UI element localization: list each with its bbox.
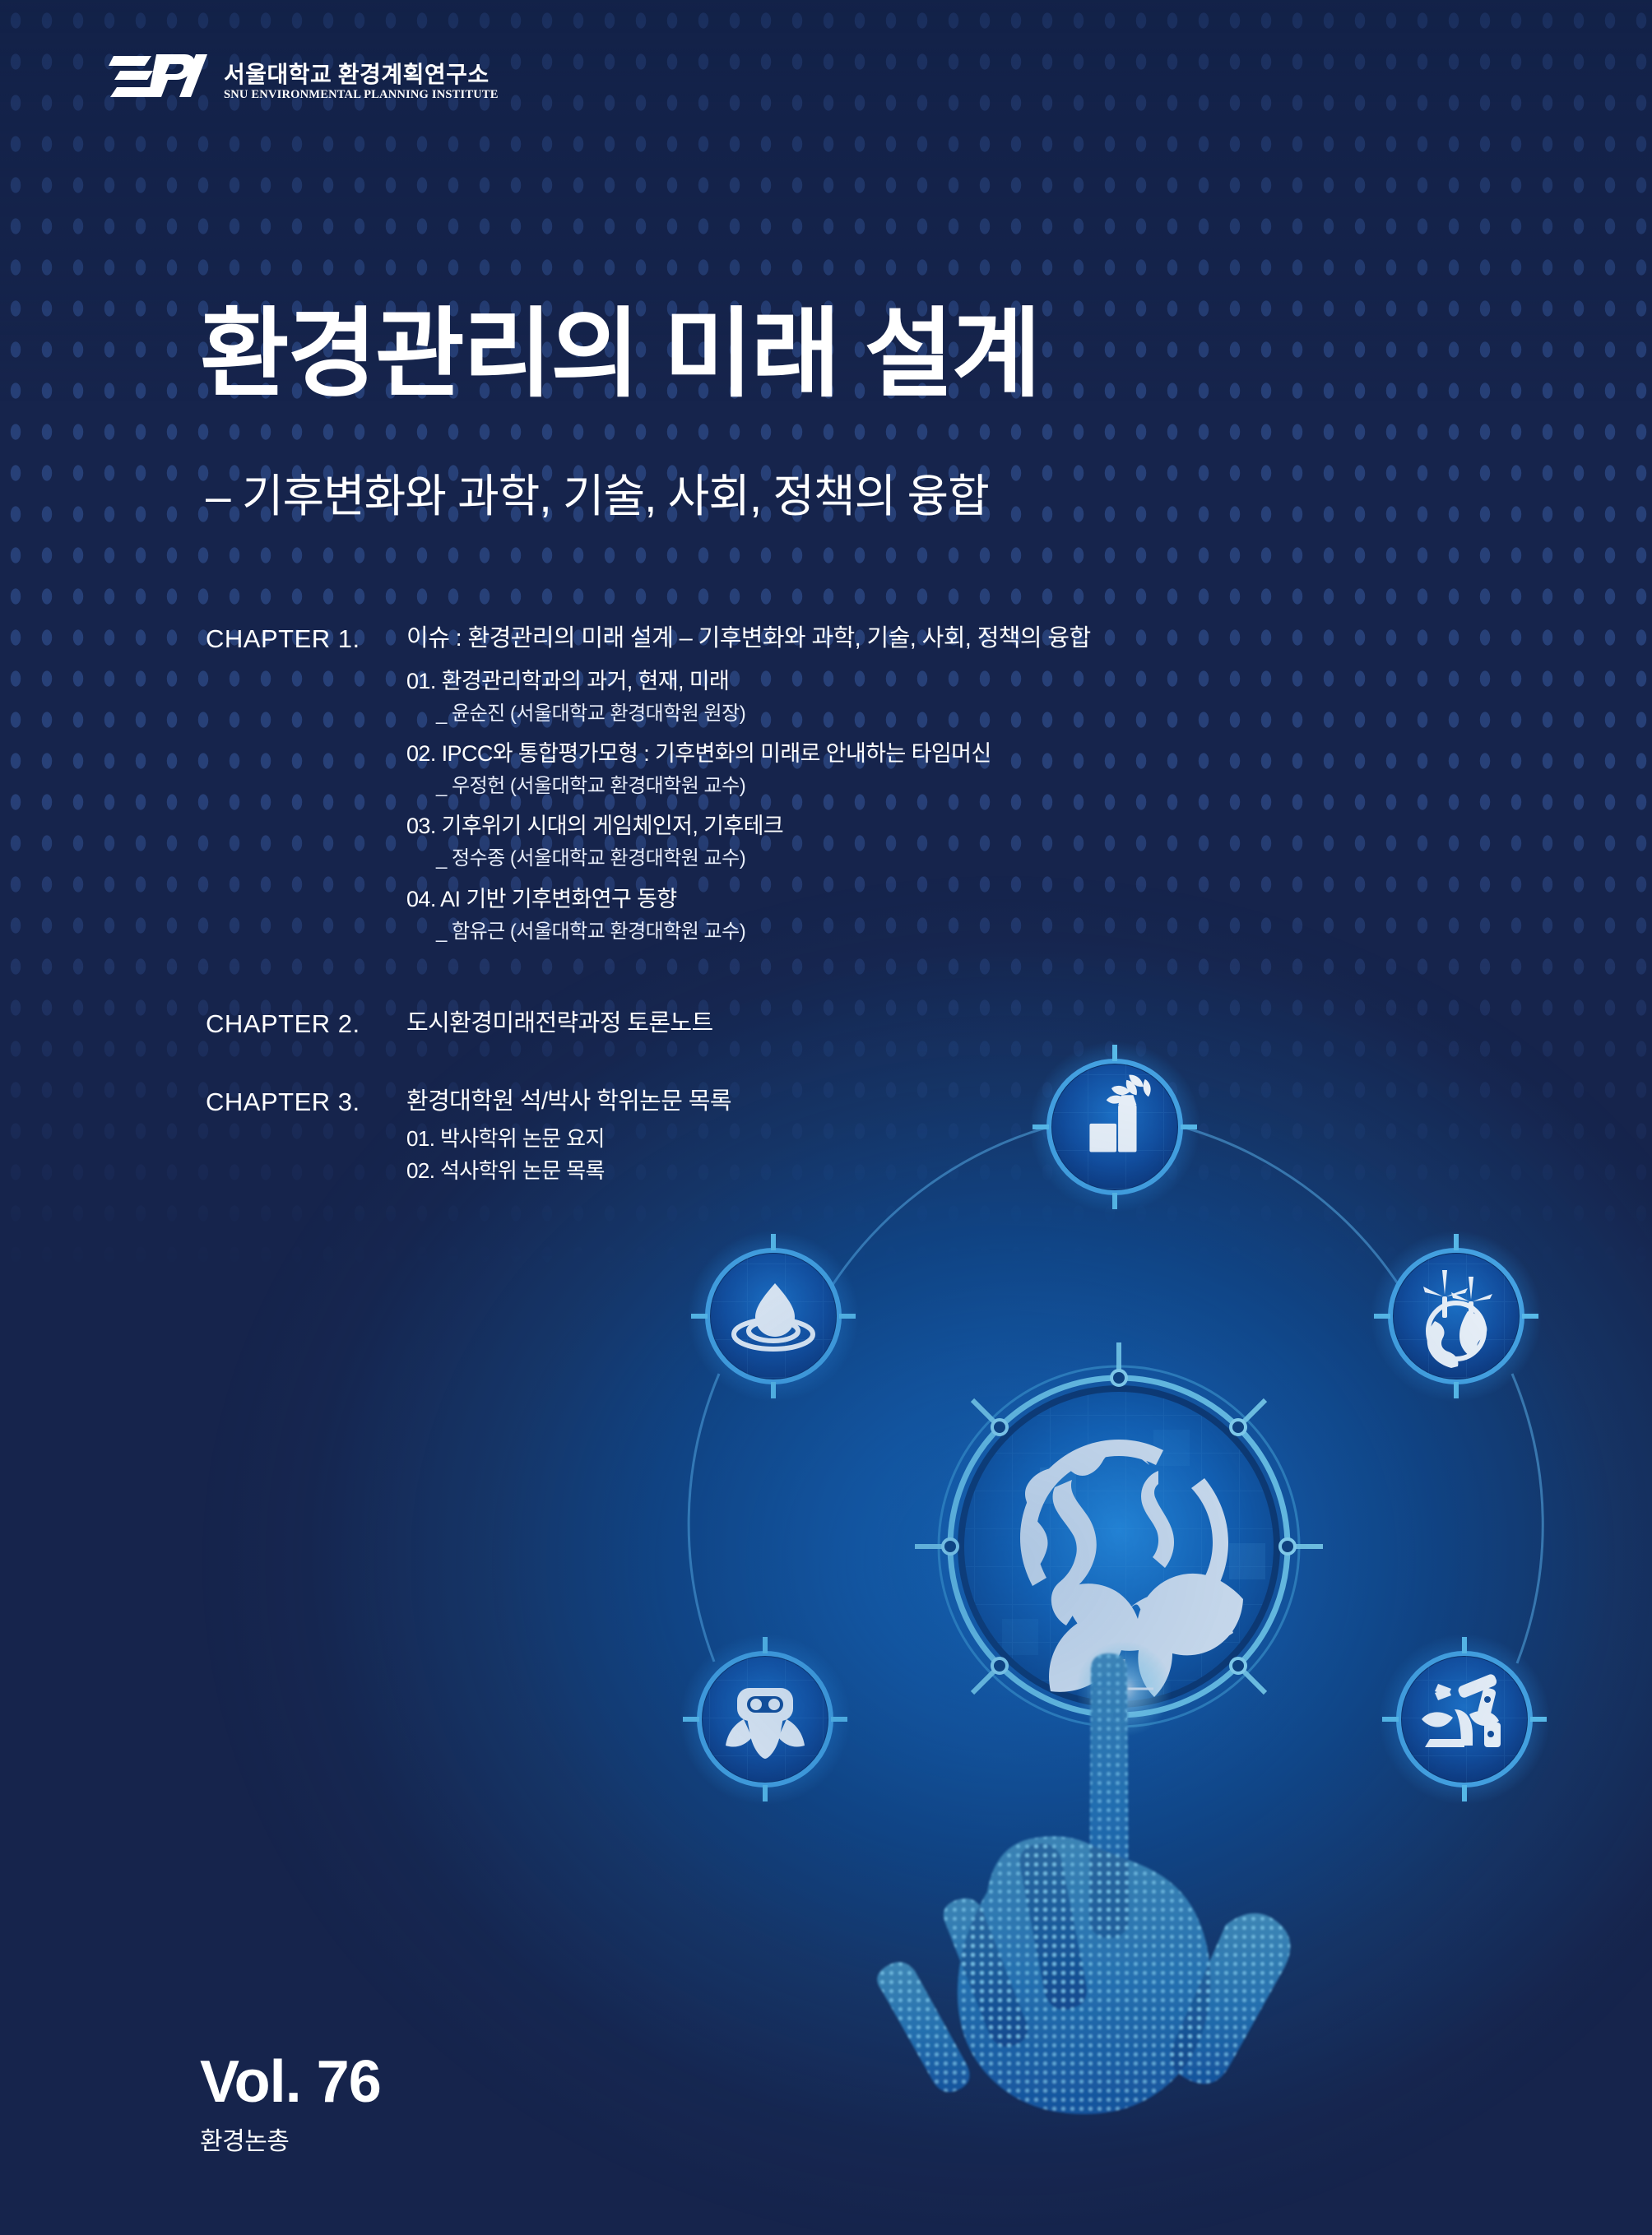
- brand-name-ko: 서울대학교 환경계획연구소: [224, 64, 499, 87]
- chapter-3: CHAPTER 3. 환경대학원 석/박사 학위논문 목록 01. 박사학위 논…: [206, 1087, 1193, 1188]
- chapter-3-sub-item-1: 01. 박사학위 논문 요지: [406, 1123, 1193, 1155]
- chapter-1-entry-3: 03. 기후위기 시대의 게임체인저, 기후테크 _ 정수종 (서울대학교 환경…: [406, 812, 1193, 871]
- page-subtitle: – 기후변화와 과학, 기술, 사회, 정책의 융합: [206, 471, 989, 522]
- chapter-1-label: CHAPTER 1.: [206, 624, 406, 656]
- chapter-1-title: 이슈 : 환경관리의 미래 설계 – 기후변화와 과학, 기술, 사회, 정책의…: [406, 624, 1091, 653]
- entry-title: 03. 기후위기 시대의 게임체인저, 기후테크: [406, 812, 1193, 841]
- entry-author: _ 함유근 (서울대학교 환경대학원 교수): [436, 919, 1193, 944]
- chapter-1: CHAPTER 1. 이슈 : 환경관리의 미래 설계 – 기후변화와 과학, …: [206, 624, 1193, 944]
- entry-author: _ 정수종 (서울대학교 환경대학원 교수): [436, 846, 1193, 871]
- toc-spacer-2: [206, 1049, 1193, 1087]
- chapter-1-entry-4: 04. AI 기반 기후변화연구 동향 _ 함유근 (서울대학교 환경대학원 교…: [406, 885, 1193, 944]
- brand-logo-text: 서울대학교 환경계획연구소 SNU ENVIRONMENTAL PLANNING…: [224, 64, 499, 104]
- chapter-1-entry-2: 02. IPCC와 통합평가모형 : 기후변화의 미래로 안내하는 타임머신 _…: [406, 740, 1193, 799]
- volume-block: Vol. 76 환경논총: [200, 2052, 381, 2154]
- entry-title: 04. AI 기반 기후변화연구 동향: [406, 885, 1193, 914]
- volume-name: 환경논총: [200, 2130, 381, 2154]
- brand-logo: 서울대학교 환경계획연구소 SNU ENVIRONMENTAL PLANNING…: [105, 49, 499, 104]
- epi-logo-icon: [105, 49, 211, 104]
- toc-spacer-1: [206, 958, 1193, 1009]
- cover-page: 서울대학교 환경계획연구소 SNU ENVIRONMENTAL PLANNING…: [0, 0, 1652, 2235]
- entry-author: _ 우정헌 (서울대학교 환경대학원 교수): [436, 773, 1193, 799]
- brand-name-en: SNU ENVIRONMENTAL PLANNING INSTITUTE: [224, 89, 499, 101]
- chapter-3-sub-item-2: 02. 석사학위 논문 목록: [406, 1155, 1193, 1187]
- chapter-2-label: CHAPTER 2.: [206, 1009, 406, 1041]
- chapter-3-label: CHAPTER 3.: [206, 1087, 406, 1119]
- page-title: 환경관리의 미래 설계: [200, 304, 1040, 406]
- chapter-2: CHAPTER 2. 도시환경미래전략과정 토론노트: [206, 1009, 1193, 1041]
- chapter-3-title: 환경대학원 석/박사 학위논문 목록: [406, 1087, 731, 1116]
- table-of-contents: CHAPTER 1. 이슈 : 환경관리의 미래 설계 – 기후변화와 과학, …: [206, 624, 1193, 1195]
- entry-title: 01. 환경관리학과의 과거, 현재, 미래: [406, 667, 1193, 696]
- chapter-1-entry-1: 01. 환경관리학과의 과거, 현재, 미래 _ 윤순진 (서울대학교 환경대학…: [406, 667, 1193, 726]
- entry-title: 02. IPCC와 통합평가모형 : 기후변화의 미래로 안내하는 타임머신: [406, 740, 1193, 768]
- entry-author: _ 윤순진 (서울대학교 환경대학원 원장): [436, 701, 1193, 726]
- volume-number: Vol. 76: [200, 2052, 381, 2112]
- chapter-2-title: 도시환경미래전략과정 토론노트: [406, 1009, 713, 1038]
